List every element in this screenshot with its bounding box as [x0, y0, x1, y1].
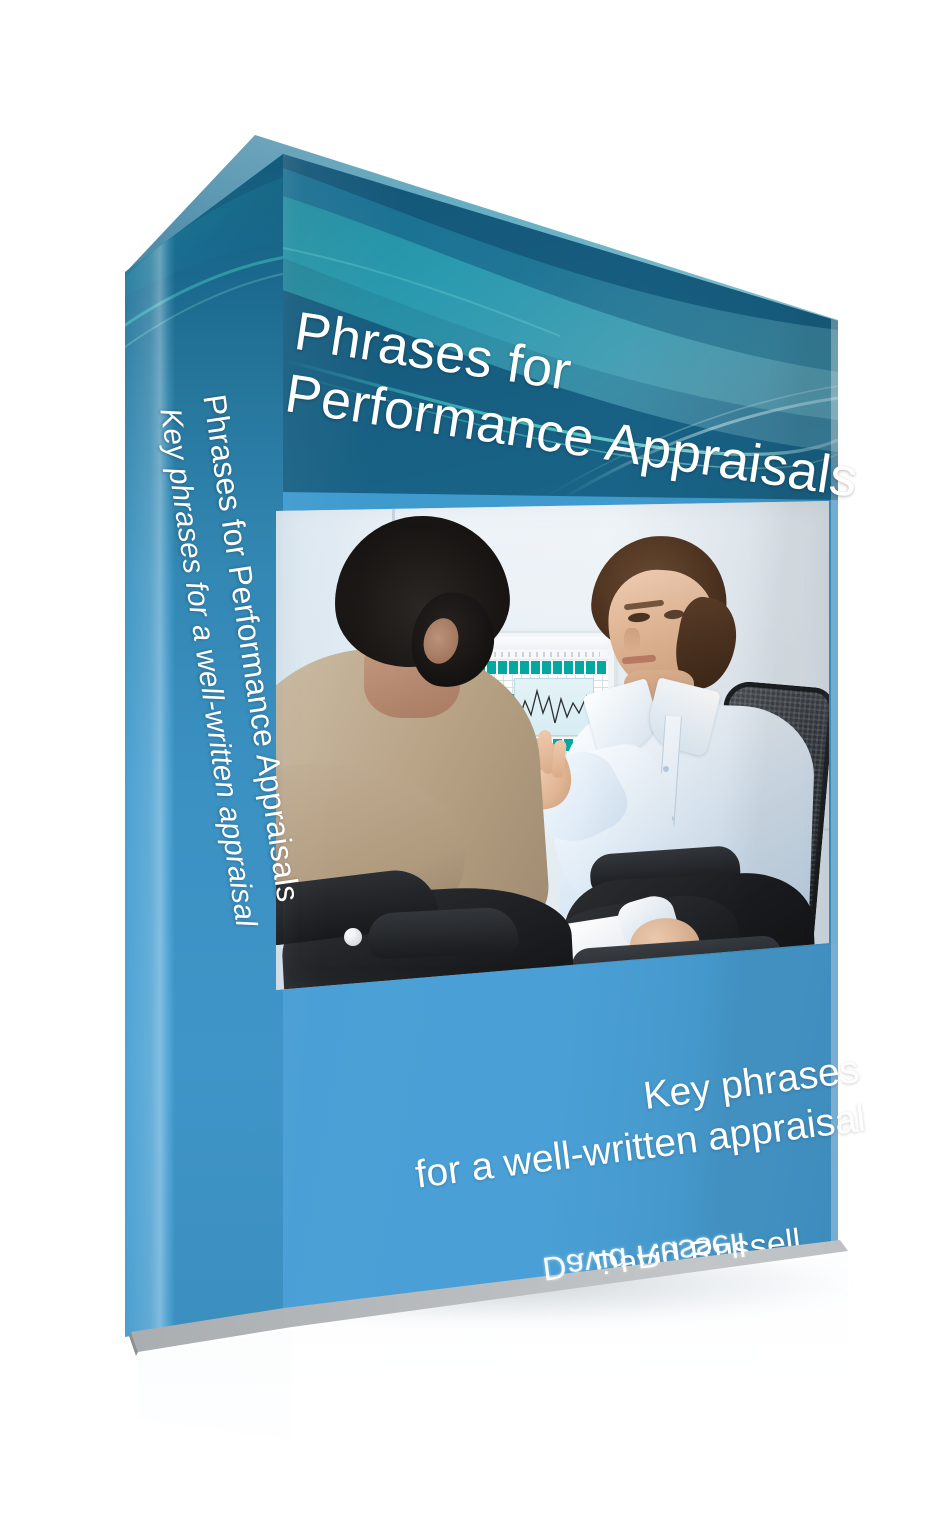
canvas: Phrases for Performance Appraisals Key p… [0, 0, 944, 1514]
book-3d-render: Phrases for Performance Appraisals Key p… [0, 0, 944, 1514]
